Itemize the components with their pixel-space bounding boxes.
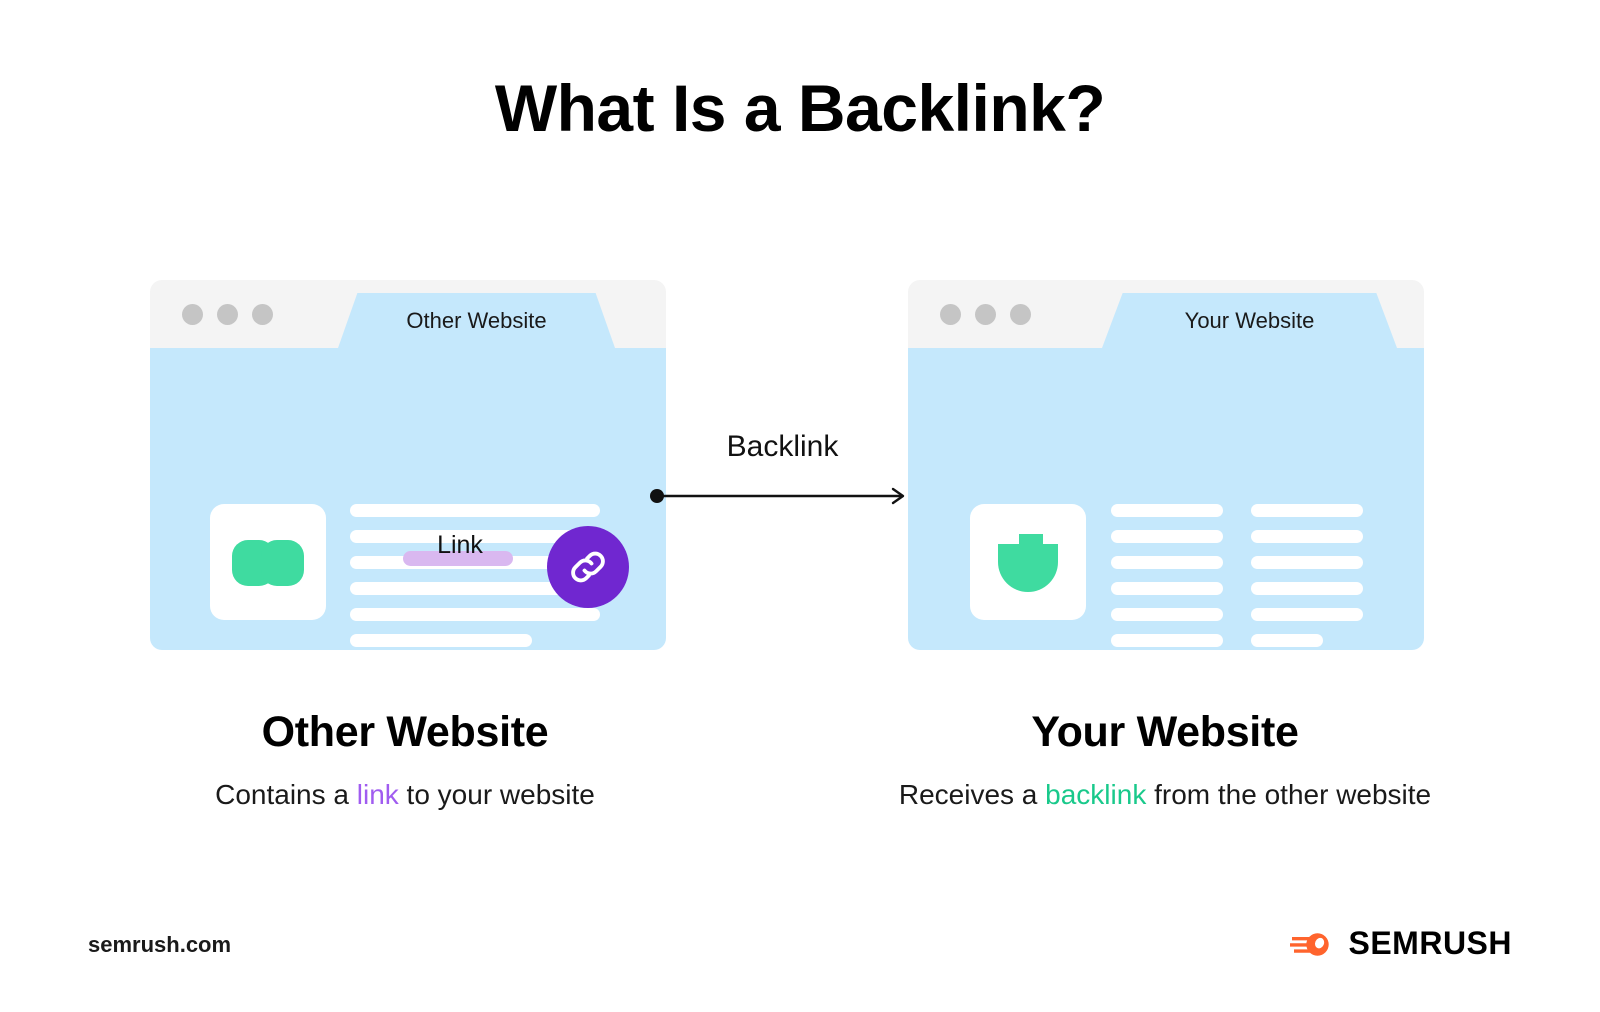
page-body-other-website: Link <box>150 348 666 650</box>
caption-subtitle: Receives a backlink from the other websi… <box>850 779 1480 811</box>
window-dot-minimize[interactable] <box>217 304 238 325</box>
caption-your-website: Your Website Receives a backlink from th… <box>850 708 1480 811</box>
text-line-placeholder <box>1251 530 1363 543</box>
browser-window-your-website: Your Website <box>908 280 1424 650</box>
caption-other-website: Other Website Contains a link to your we… <box>90 708 720 811</box>
text-line-placeholder <box>1111 608 1223 621</box>
green-double-blob-mark-icon <box>232 540 304 586</box>
text-line-placeholder <box>350 634 532 647</box>
browser-chrome-bar: Other Website <box>150 280 666 348</box>
link-text[interactable]: Link <box>395 531 525 560</box>
browser-window-other-website: Other Website Link <box>150 280 666 650</box>
semrush-logo: SEMRUSH <box>1290 925 1512 962</box>
window-dot-minimize[interactable] <box>975 304 996 325</box>
window-dot-close[interactable] <box>182 304 203 325</box>
site-logo-tile <box>210 504 326 620</box>
infographic-canvas: What Is a Backlink? Other Website <box>0 0 1600 1012</box>
text-line-placeholder <box>1251 582 1363 595</box>
caption-heading: Other Website <box>90 708 720 757</box>
text-line-placeholder <box>1111 582 1223 595</box>
arrow-icon <box>650 486 915 506</box>
caption-sub-suffix: from the other website <box>1146 779 1431 810</box>
chain-link-icon[interactable] <box>547 526 629 608</box>
caption-sub-accent-link: link <box>357 779 399 810</box>
semrush-comet-icon <box>1290 928 1334 960</box>
text-line-placeholder <box>1111 530 1223 543</box>
connector-label: Backlink <box>650 430 915 464</box>
green-shield-mark-icon <box>998 534 1058 592</box>
caption-sub-prefix: Receives a <box>899 779 1045 810</box>
text-line-placeholder <box>1111 556 1223 569</box>
caption-subtitle: Contains a link to your website <box>90 779 720 811</box>
site-logo-tile <box>970 504 1086 620</box>
text-line-placeholder <box>1251 634 1323 647</box>
browser-chrome-bar: Your Website <box>908 280 1424 348</box>
window-controls <box>182 304 273 325</box>
text-line-placeholder <box>350 504 600 517</box>
browser-tab-other-website[interactable]: Other Website <box>338 293 615 348</box>
page-title: What Is a Backlink? <box>0 72 1600 145</box>
semrush-wordmark: SEMRUSH <box>1348 925 1512 962</box>
text-line-placeholder <box>1251 556 1363 569</box>
text-line-placeholder <box>1111 634 1223 647</box>
text-line-placeholder <box>1251 608 1363 621</box>
text-line-placeholder <box>350 608 600 621</box>
window-dot-maximize[interactable] <box>1010 304 1031 325</box>
window-controls <box>940 304 1031 325</box>
window-dot-close[interactable] <box>940 304 961 325</box>
window-dot-maximize[interactable] <box>252 304 273 325</box>
footer-site-url[interactable]: semrush.com <box>88 932 231 958</box>
browser-tab-your-website[interactable]: Your Website <box>1102 293 1397 348</box>
caption-sub-suffix: to your website <box>399 779 595 810</box>
text-line-placeholder <box>1111 504 1223 517</box>
caption-heading: Your Website <box>850 708 1480 757</box>
page-body-your-website <box>908 348 1424 650</box>
text-line-placeholder <box>1251 504 1363 517</box>
caption-sub-prefix: Contains a <box>215 779 357 810</box>
backlink-connector: Backlink <box>650 430 915 520</box>
caption-sub-accent-backlink: backlink <box>1045 779 1146 810</box>
